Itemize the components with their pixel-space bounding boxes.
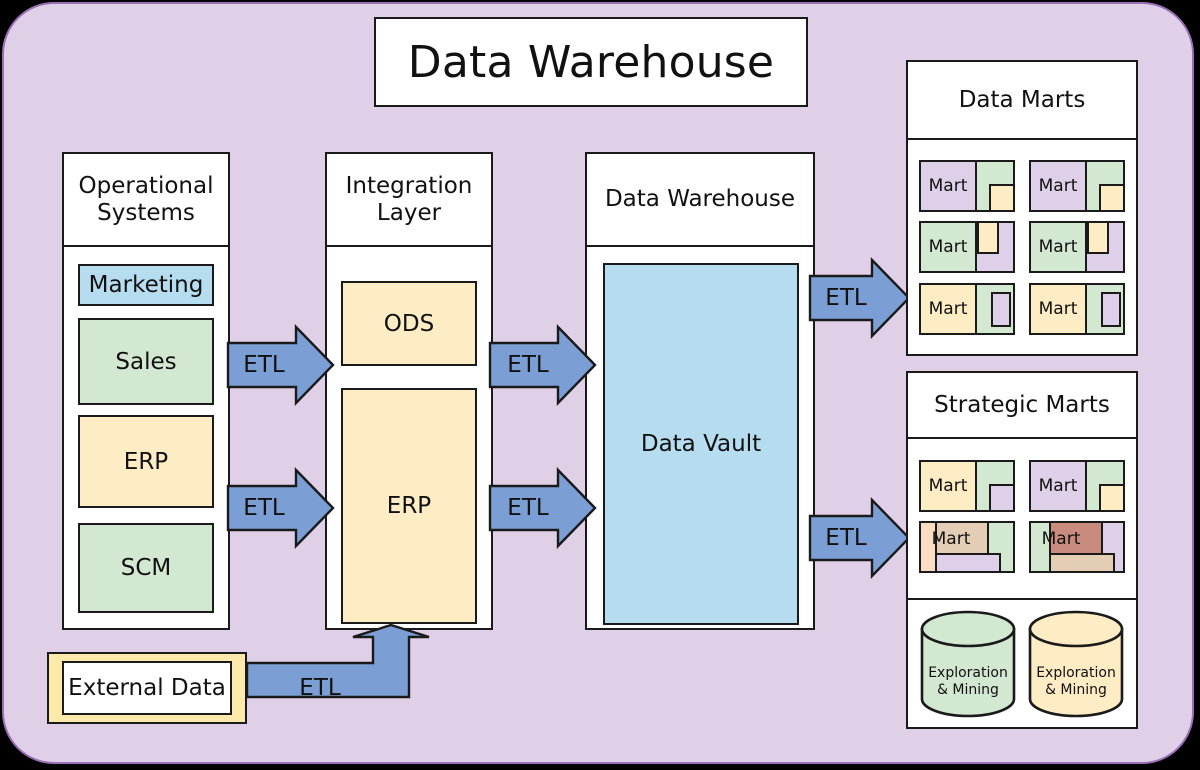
mart-sub-block [991, 292, 1011, 327]
strategic-mart-tile-composite[interactable] [919, 521, 1015, 573]
etl-arrow-erp-to-vault [490, 468, 596, 548]
mart-bottom-bar [1049, 553, 1115, 573]
data-mart-tile[interactable] [919, 160, 1015, 212]
integration-layer-header-line2: Layer [377, 200, 441, 227]
external-data-inner: External Data [62, 661, 232, 715]
strategic-mart-tile[interactable] [1029, 460, 1125, 512]
data-vault-label: Data Vault [641, 431, 761, 457]
strategic-marts-divider [906, 598, 1138, 600]
data-warehouse-header: Data Warehouse [587, 154, 813, 247]
integration-item-ods[interactable]: ODS [341, 281, 477, 366]
operational-systems-header-line1: Operational [79, 173, 214, 200]
etl-arrow-ods-to-vault [490, 325, 596, 405]
mart-sub-block [1101, 292, 1121, 327]
operational-item-marketing-label: Marketing [89, 272, 204, 298]
etl-arrow-vault-to-marts [810, 258, 910, 338]
operational-item-sales[interactable]: Sales [78, 318, 214, 405]
mart-main-block [1049, 521, 1103, 555]
strategic-mart-tile[interactable] [919, 460, 1015, 512]
integration-layer-header: Integration Layer [327, 154, 491, 247]
operational-systems-header: Operational Systems [64, 154, 228, 247]
etl-arrow-ops-to-ods [228, 325, 334, 405]
etl-arrow-external-to-integration [245, 625, 467, 700]
exploration-mining-cylinder[interactable]: Exploration & Mining [1028, 610, 1124, 718]
mart-bottom-bar [935, 553, 1001, 573]
data-marts-header: Data Marts [908, 62, 1136, 140]
mart-sub-block [1099, 184, 1125, 212]
external-data-label: External Data [68, 675, 226, 701]
integration-item-erp[interactable]: ERP [341, 388, 477, 624]
diagram-title-box: Data Warehouse [374, 17, 808, 107]
strategic-marts-header-label: Strategic Marts [934, 392, 1110, 419]
etl-arrow-ops-to-erp [228, 468, 334, 548]
mart-sub-block [989, 484, 1015, 512]
mart-sub-block [1099, 484, 1125, 512]
operational-item-sales-label: Sales [115, 349, 176, 375]
mart-main-block [935, 521, 989, 555]
integration-item-erp-label: ERP [387, 493, 431, 519]
data-mart-tile[interactable] [1029, 283, 1125, 335]
integration-layer-header-line1: Integration [346, 173, 473, 200]
diagram-canvas: Data Warehouse Operational Systems Marke… [0, 0, 1200, 770]
strategic-mart-tile-composite[interactable] [1029, 521, 1125, 573]
integration-item-ods-label: ODS [384, 311, 434, 337]
strategic-marts-header: Strategic Marts [908, 373, 1136, 439]
data-mart-tile[interactable] [919, 283, 1015, 335]
operational-item-erp-label: ERP [124, 449, 168, 475]
exploration-mining-cylinder[interactable]: Exploration & Mining [920, 610, 1016, 718]
page-title: Data Warehouse [408, 37, 774, 88]
data-marts-header-label: Data Marts [959, 87, 1086, 114]
data-vault-tile[interactable]: Data Vault [603, 263, 799, 625]
etl-arrow-vault-to-strategic [810, 498, 910, 578]
operational-item-scm-label: SCM [121, 555, 172, 581]
mart-sub-block [1087, 221, 1109, 254]
operational-item-erp[interactable]: ERP [78, 415, 214, 508]
operational-item-marketing[interactable]: Marketing [78, 264, 214, 306]
data-warehouse-header-label: Data Warehouse [605, 186, 795, 213]
operational-systems-header-line2: Systems [97, 200, 195, 227]
data-mart-tile[interactable] [919, 221, 1015, 273]
data-mart-tile[interactable] [1029, 221, 1125, 273]
mart-sub-block [977, 221, 999, 254]
operational-item-scm[interactable]: SCM [78, 523, 214, 613]
mart-sub-block [989, 184, 1015, 212]
data-mart-tile[interactable] [1029, 160, 1125, 212]
